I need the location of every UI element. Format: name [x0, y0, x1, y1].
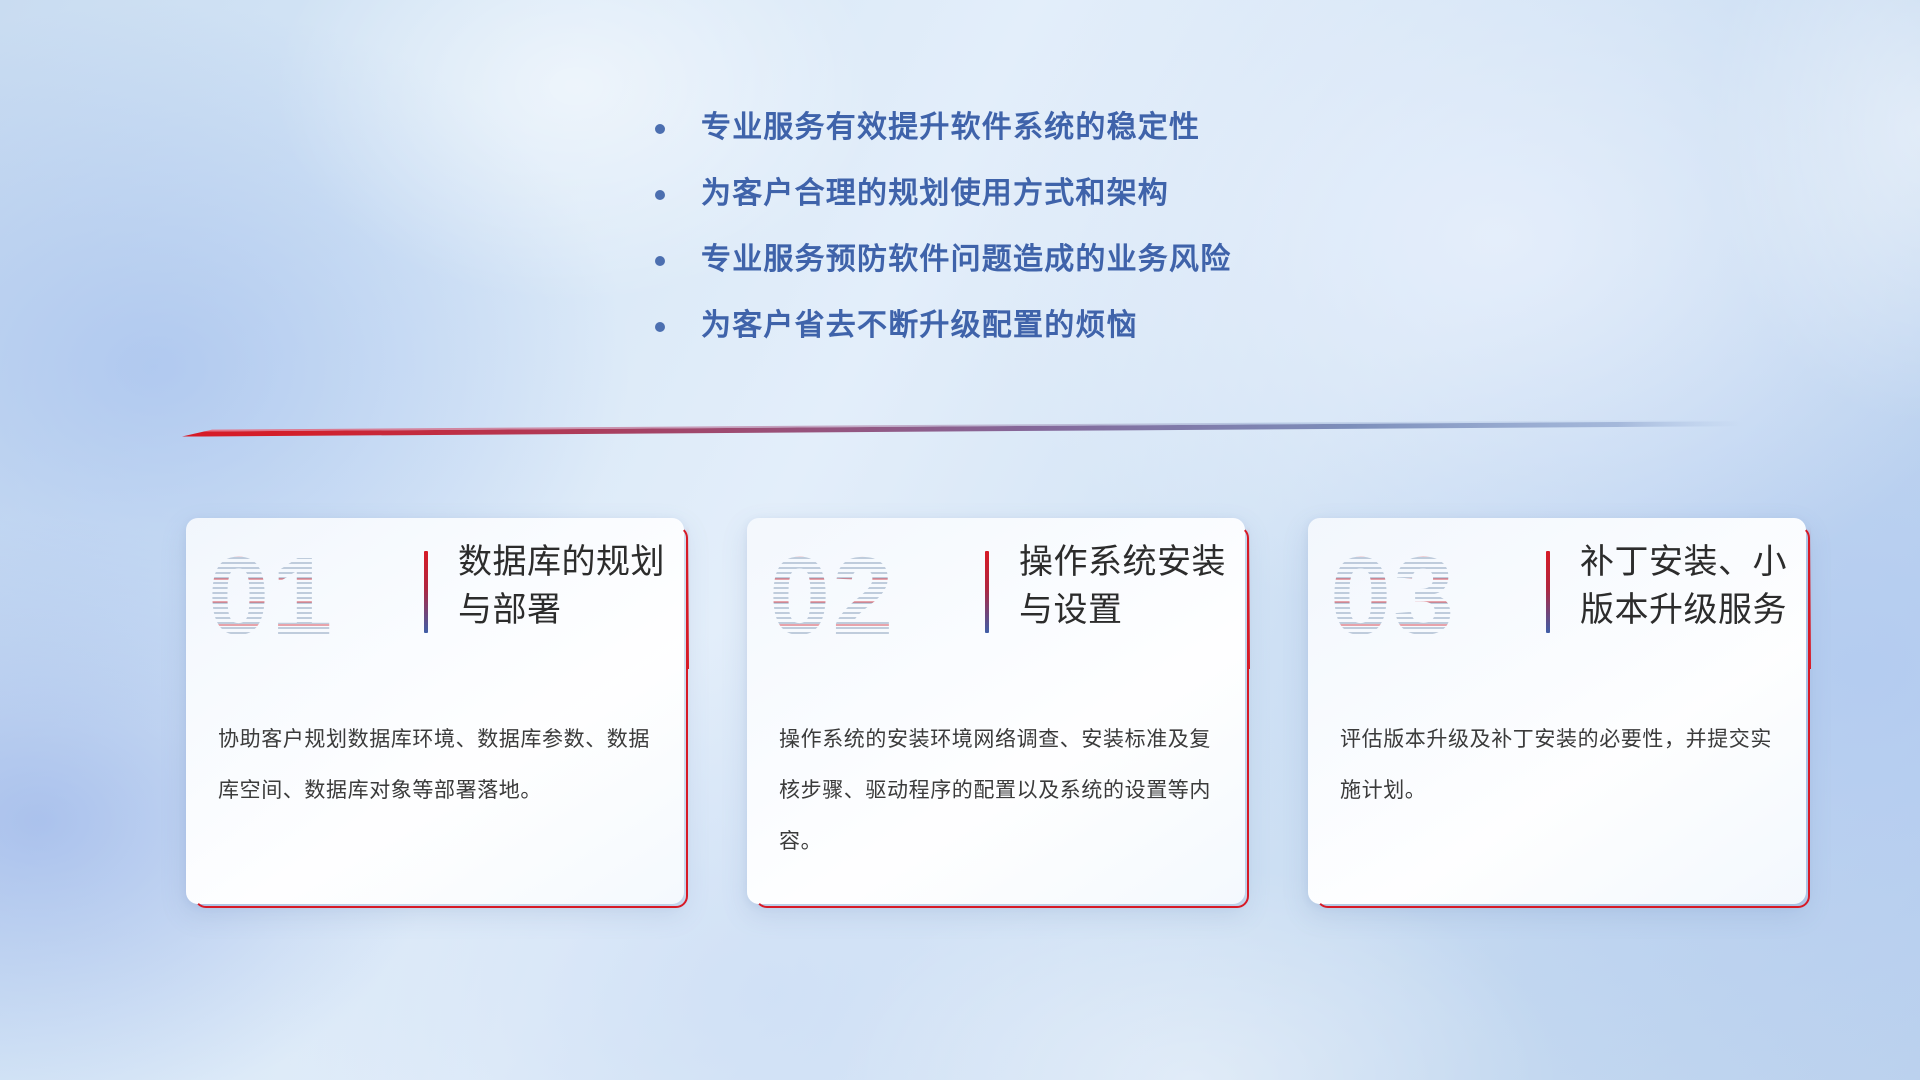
bullet-text: 专业服务有效提升软件系统的稳定性	[701, 108, 1200, 148]
bullet-dot-icon	[655, 322, 665, 332]
service-card-01[interactable]: 01 01 数据库的规划与部署 协助客户规划数据库环境、数据库参数、数据库空间、…	[186, 518, 684, 904]
slide-canvas: 专业服务有效提升软件系统的稳定性 为客户合理的规划使用方式和架构 专业服务预防软…	[0, 0, 1920, 1080]
card-title: 补丁安装、小版本升级服务	[1580, 538, 1800, 634]
card-number: 01	[208, 532, 398, 662]
benefits-bullet-list: 专业服务有效提升软件系统的稳定性 为客户合理的规划使用方式和架构 专业服务预防软…	[655, 108, 1415, 372]
card-divider-bar	[424, 551, 428, 633]
card-divider-bar	[1546, 551, 1550, 633]
card-header: 03 03 补丁安装、小版本升级服务	[1308, 518, 1806, 678]
card-header: 01 01 数据库的规划与部署	[186, 518, 684, 678]
list-item: 为客户省去不断升级配置的烦恼	[655, 306, 1415, 372]
card-number: 02	[769, 532, 959, 662]
bullet-dot-icon	[655, 256, 665, 266]
service-cards: 01 01 数据库的规划与部署 协助客户规划数据库环境、数据库参数、数据库空间、…	[186, 518, 1806, 918]
card-title: 数据库的规划与部署	[458, 538, 678, 634]
service-card-02[interactable]: 02 02 操作系统安装与设置 操作系统的安装环境网络调查、安装标准及复核步骤、…	[747, 518, 1245, 904]
list-item: 专业服务有效提升软件系统的稳定性	[655, 108, 1415, 174]
card-body-text: 评估版本升级及补丁安装的必要性，并提交实施计划。	[1340, 714, 1780, 816]
section-divider	[182, 418, 1742, 442]
card-number: 03	[1330, 532, 1520, 662]
bullet-dot-icon	[655, 124, 665, 134]
card-header: 02 02 操作系统安装与设置	[747, 518, 1245, 678]
bullet-text: 为客户合理的规划使用方式和架构	[701, 174, 1169, 214]
bullet-dot-icon	[655, 190, 665, 200]
divider-wedge-icon	[182, 418, 1742, 442]
card-title: 操作系统安装与设置	[1019, 538, 1239, 634]
list-item: 为客户合理的规划使用方式和架构	[655, 174, 1415, 240]
bullet-text: 为客户省去不断升级配置的烦恼	[701, 306, 1138, 346]
list-item: 专业服务预防软件问题造成的业务风险	[655, 240, 1415, 306]
card-divider-bar	[985, 551, 989, 633]
card-body-text: 协助客户规划数据库环境、数据库参数、数据库空间、数据库对象等部署落地。	[218, 714, 658, 816]
card-body-text: 操作系统的安装环境网络调查、安装标准及复核步骤、驱动程序的配置以及系统的设置等内…	[779, 714, 1219, 867]
bullet-text: 专业服务预防软件问题造成的业务风险	[701, 240, 1231, 280]
service-card-03[interactable]: 03 03 补丁安装、小版本升级服务 评估版本升级及补丁安装的必要性，并提交实施…	[1308, 518, 1806, 904]
